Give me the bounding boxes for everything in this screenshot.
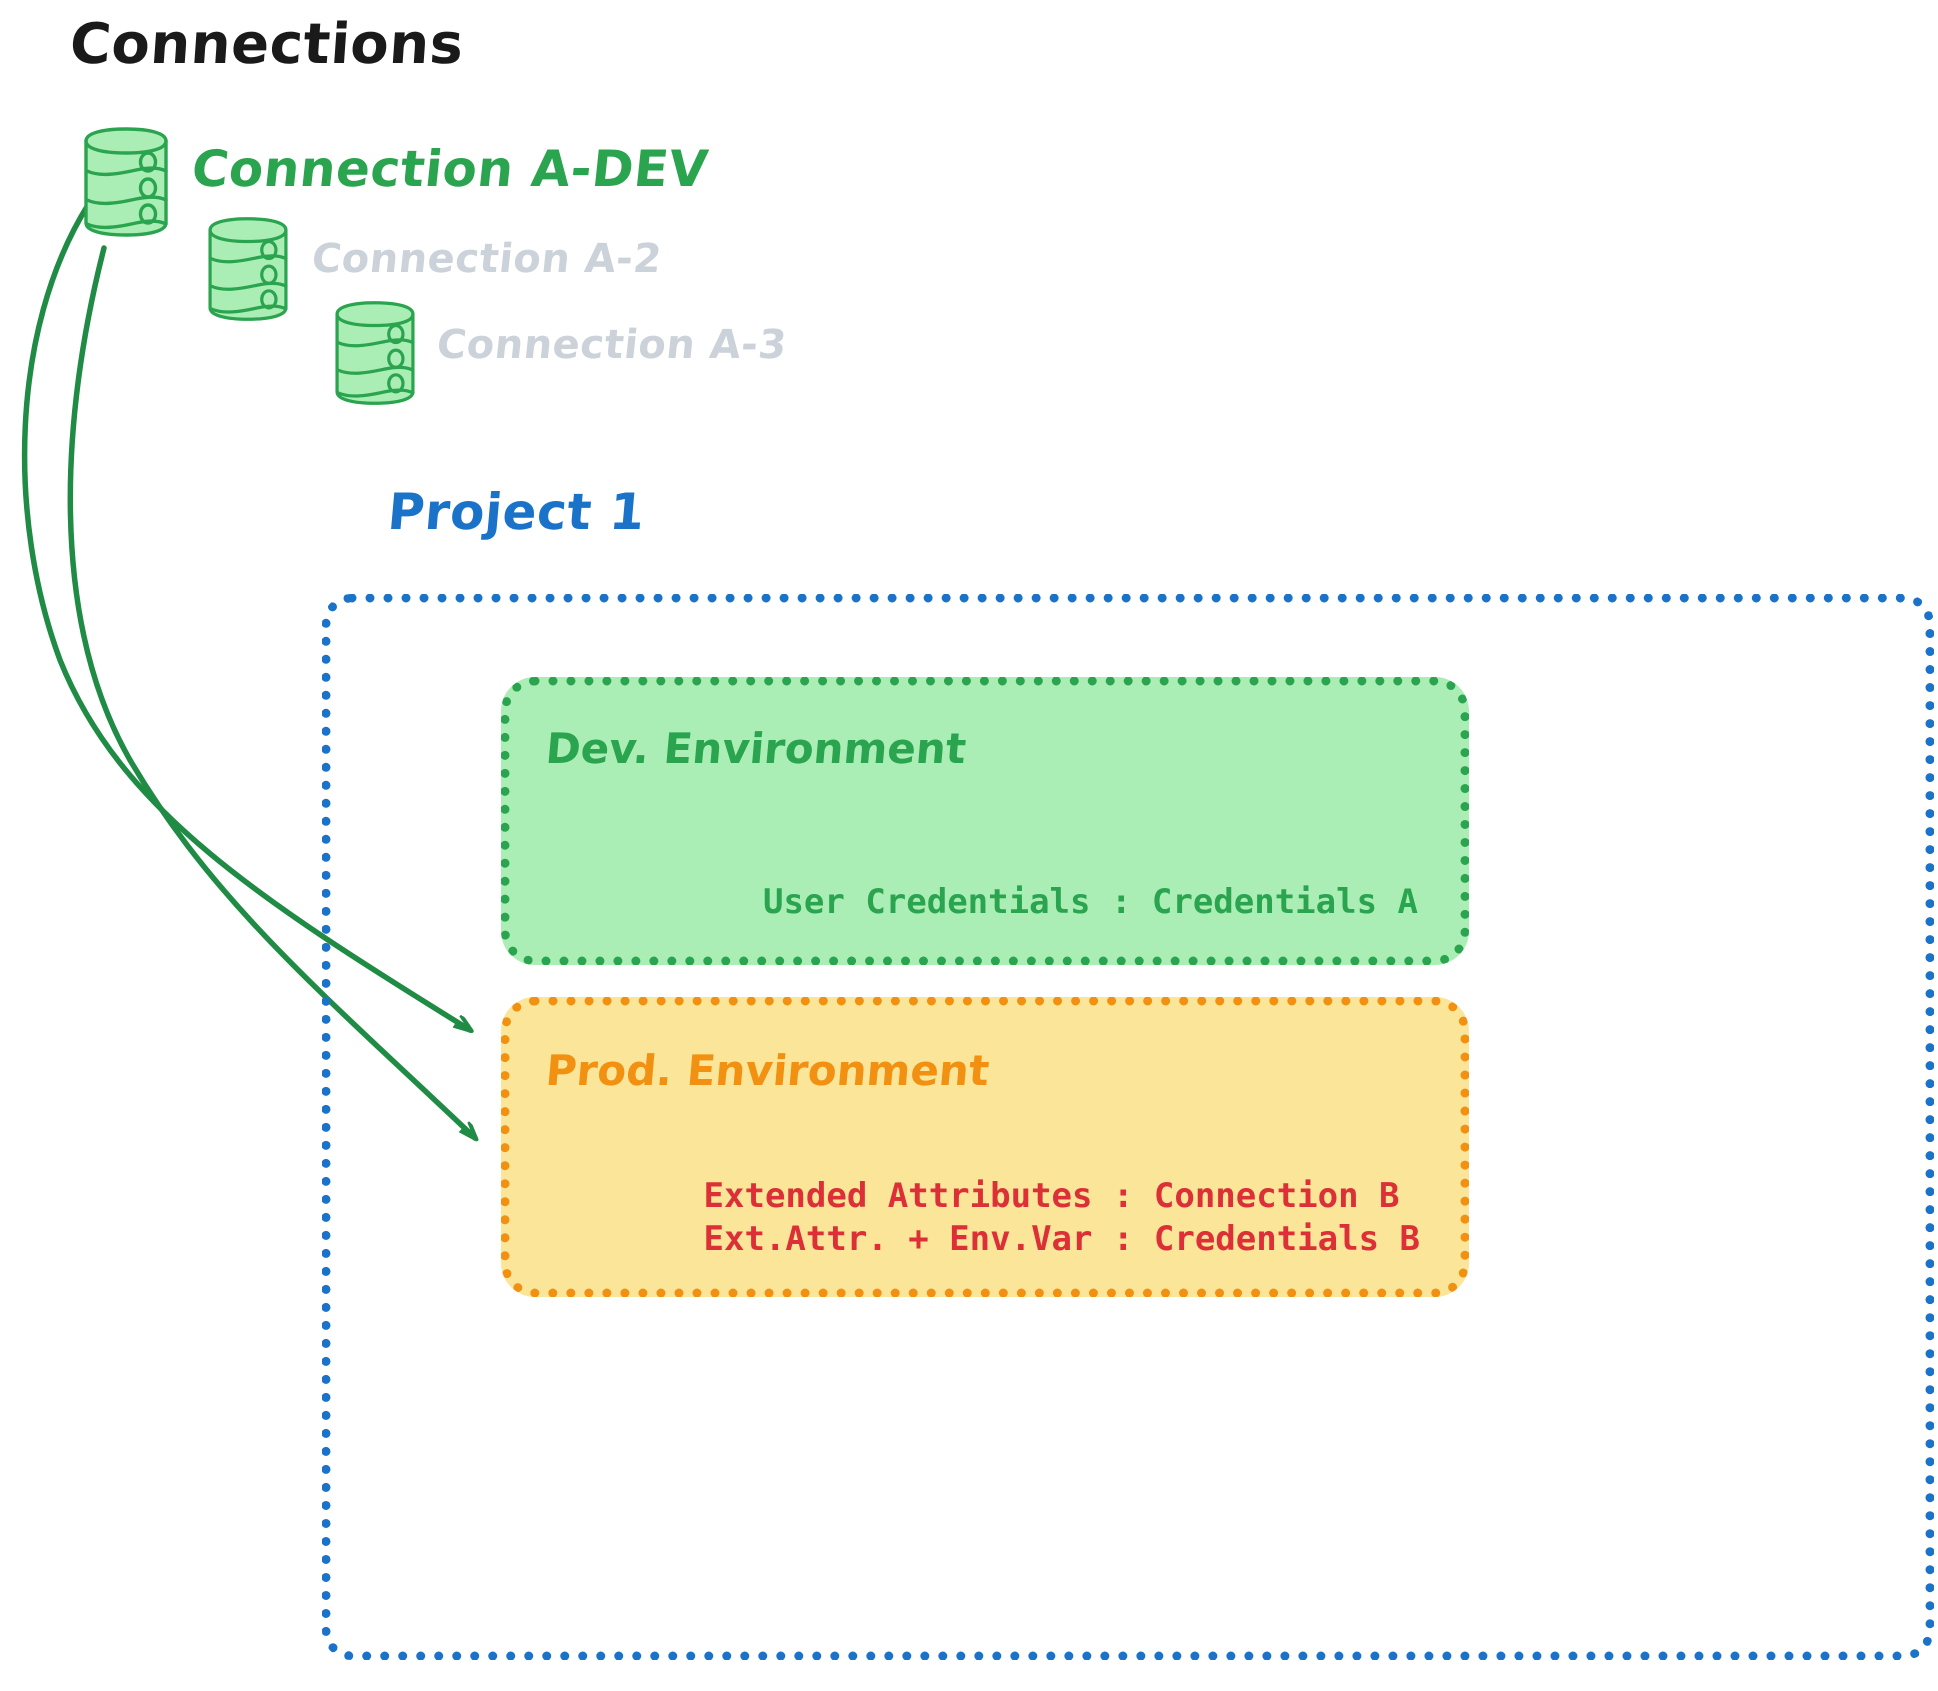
project-title: Project 1 [385,483,647,541]
environment-attribute-prod-ext-attr-env-var: Ext.Attr. + Env.Var : Credentials B [704,1218,1420,1262]
connection-label-a-2: Connection A-2 [310,236,665,282]
project-container: Dev. Environment User Credentials : Cred… [322,594,1934,1660]
environment-card-prod[interactable]: Prod. Environment Extended Attributes : … [501,997,1469,1297]
database-icon-connection-a-2[interactable] [200,214,296,324]
diagram-canvas: Connections Connection A-DEV Connection … [0,0,1938,1691]
connection-label-a-dev: Connection A-DEV [189,140,711,198]
environment-title-dev: Dev. Environment [544,724,968,773]
environment-attribute-prod-extended-attributes: Extended Attributes : Connection B [704,1175,1420,1219]
database-icon-connection-a-dev[interactable] [78,124,174,240]
environment-attribute-dev-user-credentials: User Credentials : Credentials A [763,882,1418,922]
environment-title-prod: Prod. Environment [544,1046,991,1095]
environment-attribute-list-prod: Extended Attributes : Connection B Ext.A… [704,1175,1420,1262]
connection-label-a-3: Connection A-3 [435,322,790,368]
page-title: Connections [68,12,466,77]
database-icon-connection-a-3[interactable] [327,298,423,408]
environment-card-dev[interactable]: Dev. Environment User Credentials : Cred… [501,677,1469,965]
